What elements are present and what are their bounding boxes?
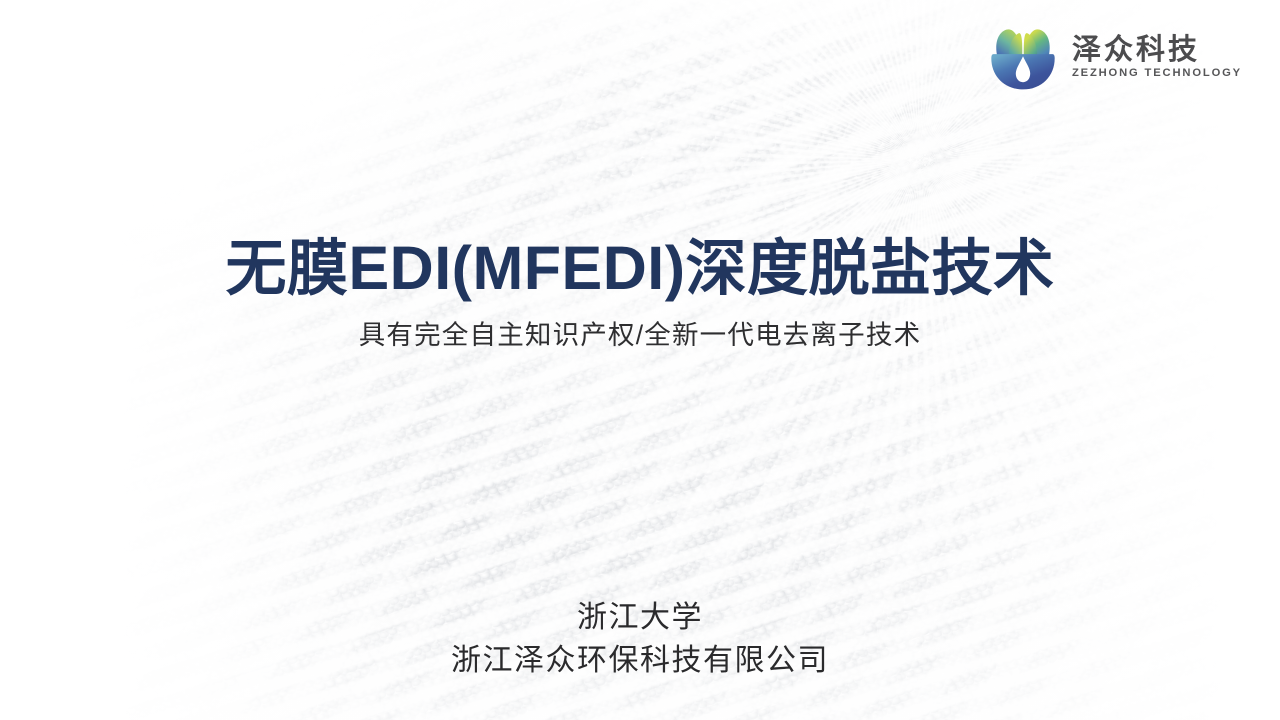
affiliation-university: 浙江大学	[0, 597, 1280, 640]
headline-block: 无膜EDI(MFEDI)深度脱盐技术 具有完全自主知识产权/全新一代电去离子技术	[0, 236, 1280, 352]
brand-name-cn: 泽众科技	[1072, 35, 1242, 66]
slide-title: 无膜EDI(MFEDI)深度脱盐技术	[0, 236, 1280, 302]
slide-subtitle: 具有完全自主知识产权/全新一代电去离子技术	[0, 320, 1280, 352]
brand-wordmark: 泽众科技 ZEZHONG TECHNOLOGY	[1072, 35, 1242, 79]
brand-name-en: ZEZHONG TECHNOLOGY	[1072, 68, 1242, 79]
affiliation-block: 浙江大学 浙江泽众环保科技有限公司	[0, 597, 1280, 682]
lotus-waterdrop-logo-icon	[987, 22, 1059, 92]
brand-logo: 泽众科技 ZEZHONG TECHNOLOGY	[987, 22, 1242, 92]
title-slide: 泽众科技 ZEZHONG TECHNOLOGY 无膜EDI(MFEDI)深度脱盐…	[0, 0, 1280, 720]
affiliation-company: 浙江泽众环保科技有限公司	[0, 640, 1280, 683]
